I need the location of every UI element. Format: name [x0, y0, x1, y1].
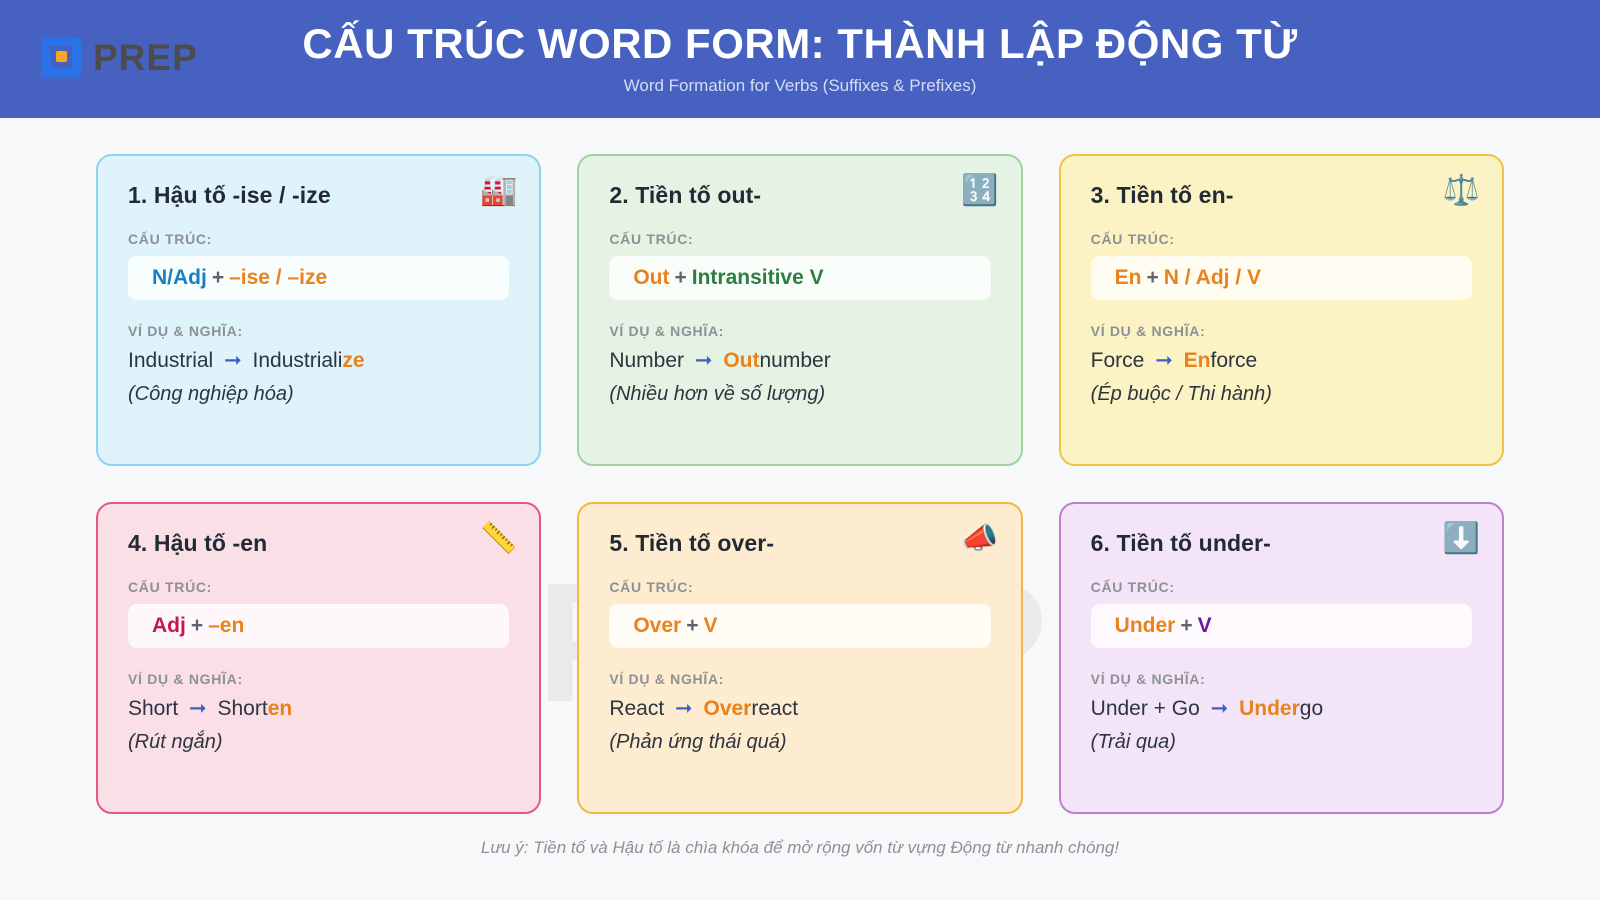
arrow-icon: ➞ — [184, 697, 212, 720]
structure-pill: Over + V — [609, 604, 990, 648]
megaphone-icon: 📣 — [961, 524, 998, 554]
structure-base: Adj — [152, 614, 186, 638]
structure-label: CẤU TRÚC: — [128, 579, 509, 595]
prep-logo-mark-icon — [38, 34, 84, 80]
example-from: Under + Go — [1091, 697, 1200, 720]
example-result-plain: force — [1210, 349, 1257, 372]
example-from: Industrial — [128, 349, 213, 372]
example-result-plain: Industriali — [253, 349, 343, 372]
example-label: VÍ DỤ & NGHĨA: — [609, 671, 990, 687]
structure-pill: En + N / Adj / V — [1091, 256, 1472, 300]
example-line: Force ➞ Enforce — [1091, 348, 1472, 373]
structure-label: CẤU TRÚC: — [1091, 231, 1472, 247]
structure-base: Over — [633, 614, 681, 638]
card-title: 4. Hậu tố -en — [128, 530, 509, 557]
page-subtitle: Word Formation for Verbs (Suffixes & Pre… — [0, 76, 1600, 96]
structure-affix: –ise / –ize — [229, 266, 327, 290]
example-label: VÍ DỤ & NGHĨA: — [128, 671, 509, 687]
example-result-highlight: Under — [1239, 697, 1300, 720]
card-title: 5. Tiền tố over- — [609, 530, 990, 557]
structure-pill: Under + V — [1091, 604, 1472, 648]
structure-base: Out — [633, 266, 669, 290]
structure-affix: Intransitive V — [692, 266, 824, 290]
card-title: 2. Tiền tố out- — [609, 182, 990, 209]
structure-label: CẤU TRÚC: — [609, 579, 990, 595]
meaning-text: (Nhiều hơn về số lượng) — [609, 383, 990, 406]
arrow-icon: ➞ — [690, 349, 718, 372]
example-result-plain: Short — [218, 697, 268, 720]
structure-affix: V — [1198, 614, 1212, 638]
structure-label: CẤU TRÚC: — [609, 231, 990, 247]
example-label: VÍ DỤ & NGHĨA: — [609, 323, 990, 339]
structure-base: En — [1115, 266, 1142, 290]
example-result-highlight: Over — [703, 697, 751, 720]
structure-pill: N/Adj + –ise / –ize — [128, 256, 509, 300]
structure-plus: + — [207, 266, 229, 290]
meaning-text: (Rút ngắn) — [128, 731, 509, 754]
structure-plus: + — [1142, 266, 1164, 290]
example-result-plain: number — [759, 349, 830, 372]
example-result-highlight: ze — [342, 349, 364, 372]
card-prefix-under: ⬇️ 6. Tiền tố under- CẤU TRÚC: Under + V… — [1059, 502, 1504, 814]
example-from: React — [609, 697, 664, 720]
example-label: VÍ DỤ & NGHĨA: — [1091, 671, 1472, 687]
page-header: PREP CẤU TRÚC WORD FORM: THÀNH LẬP ĐỘNG … — [0, 0, 1600, 118]
card-suffix-ise-ize: 🏭 1. Hậu tố -ise / -ize CẤU TRÚC: N/Adj … — [96, 154, 541, 466]
example-result-highlight: En — [1184, 349, 1211, 372]
card-title: 3. Tiền tố en- — [1091, 182, 1472, 209]
down-arrow-icon: ⬇️ — [1443, 524, 1480, 554]
example-result-plain: go — [1300, 697, 1323, 720]
card-prefix-over: 📣 5. Tiền tố over- CẤU TRÚC: Over + V VÍ… — [577, 502, 1022, 814]
card-suffix-en: 📏 4. Hậu tố -en CẤU TRÚC: Adj + –en VÍ D… — [96, 502, 541, 814]
example-from: Number — [609, 349, 684, 372]
meaning-text: (Trải qua) — [1091, 731, 1472, 754]
balance-scale-icon: ⚖️ — [1443, 176, 1480, 206]
input-numbers-icon: 🔢 — [961, 176, 998, 206]
page-title: CẤU TRÚC WORD FORM: THÀNH LẬP ĐỘNG TỪ — [0, 22, 1600, 66]
meaning-text: (Phản ứng thái quá) — [609, 731, 990, 754]
meaning-text: (Công nghiệp hóa) — [128, 383, 509, 406]
header-titles: CẤU TRÚC WORD FORM: THÀNH LẬP ĐỘNG TỪ Wo… — [0, 22, 1600, 95]
example-from: Short — [128, 697, 178, 720]
structure-affix: –en — [208, 614, 244, 638]
arrow-icon: ➞ — [1150, 349, 1178, 372]
structure-label: CẤU TRÚC: — [1091, 579, 1472, 595]
structure-plus: + — [1175, 614, 1197, 638]
example-line: Industrial ➞ Industrialize — [128, 348, 509, 373]
structure-pill: Out + Intransitive V — [609, 256, 990, 300]
example-line: Number ➞ Outnumber — [609, 348, 990, 373]
footer-note: Lưu ý: Tiền tố và Hậu tố là chìa khóa để… — [0, 838, 1600, 858]
structure-affix: V — [703, 614, 717, 638]
meaning-text: (Ép buộc / Thi hành) — [1091, 383, 1472, 406]
example-label: VÍ DỤ & NGHĨA: — [1091, 323, 1472, 339]
card-title: 6. Tiền tố under- — [1091, 530, 1472, 557]
example-line: Short ➞ Shorten — [128, 696, 509, 721]
structure-pill: Adj + –en — [128, 604, 509, 648]
example-line: React ➞ Overreact — [609, 696, 990, 721]
card-prefix-en: ⚖️ 3. Tiền tố en- CẤU TRÚC: En + N / Adj… — [1059, 154, 1504, 466]
example-result-highlight: en — [268, 697, 293, 720]
structure-plus: + — [681, 614, 703, 638]
structure-plus: + — [186, 614, 208, 638]
example-result-plain: react — [751, 697, 798, 720]
prep-logo-text: PREP — [93, 39, 198, 76]
prep-logo: PREP — [38, 34, 198, 80]
structure-base: N/Adj — [152, 266, 207, 290]
factory-icon: 🏭 — [480, 176, 517, 206]
arrow-icon: ➞ — [1206, 697, 1234, 720]
structure-plus: + — [669, 266, 691, 290]
card-prefix-out: 🔢 2. Tiền tố out- CẤU TRÚC: Out + Intran… — [577, 154, 1022, 466]
arrow-icon: ➞ — [219, 349, 247, 372]
card-title: 1. Hậu tố -ise / -ize — [128, 182, 509, 209]
arrow-icon: ➞ — [670, 697, 698, 720]
word-form-card-grid: 🏭 1. Hậu tố -ise / -ize CẤU TRÚC: N/Adj … — [96, 154, 1504, 814]
structure-label: CẤU TRÚC: — [128, 231, 509, 247]
example-result-highlight: Out — [723, 349, 759, 372]
structure-affix: N / Adj / V — [1164, 266, 1261, 290]
example-from: Force — [1091, 349, 1145, 372]
ruler-icon: 📏 — [480, 524, 517, 554]
example-label: VÍ DỤ & NGHĨA: — [128, 323, 509, 339]
structure-base: Under — [1115, 614, 1176, 638]
example-line: Under + Go ➞ Undergo — [1091, 696, 1472, 721]
